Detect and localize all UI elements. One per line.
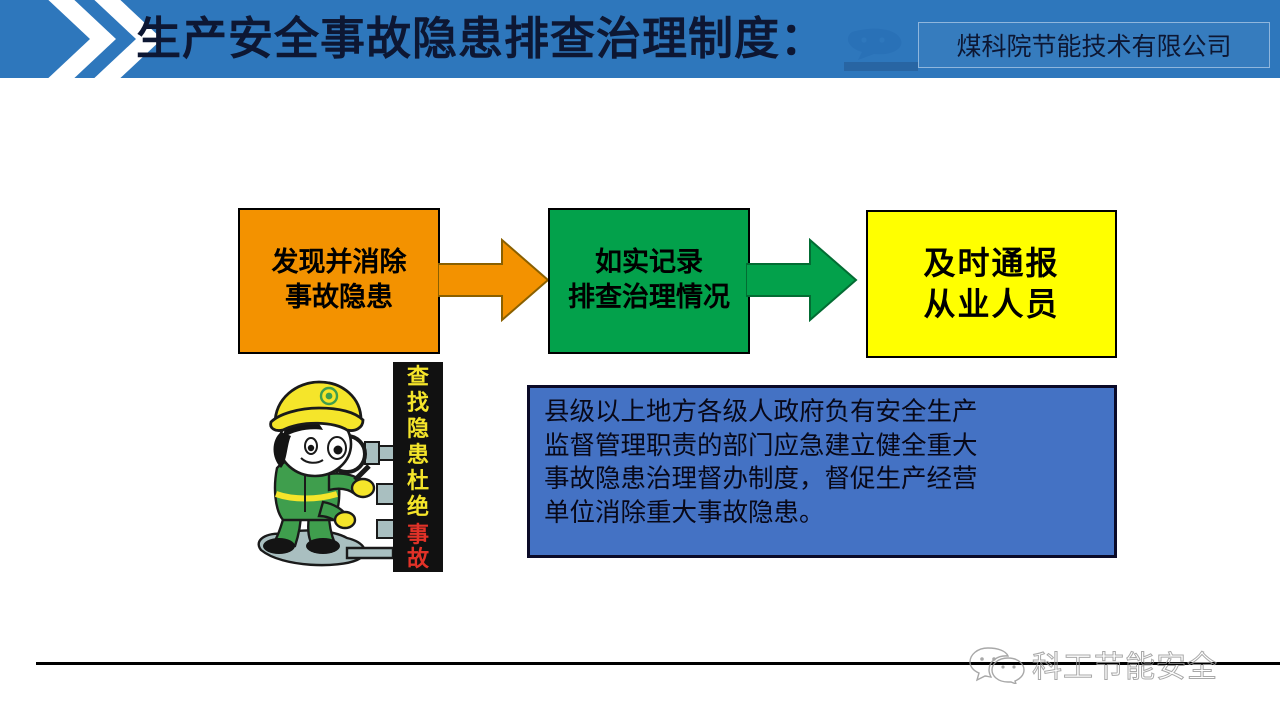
regulation-note-box: 县级以上地方各级人政府负有安全生产 监督管理职责的部门应急建立健全重大 事故隐患… [527, 385, 1117, 558]
page-title: 生产安全事故隐患排查治理制度： [136, 6, 826, 72]
arrow-right-orange-icon [438, 238, 550, 322]
wechat-icon [968, 644, 1026, 684]
header-band: 生产安全事故隐患排查治理制度： 煤科院节能技术有限公司 [0, 0, 1280, 78]
flow-step-record[interactable]: 如实记录 排查治理情况 [548, 208, 750, 354]
svg-text:杜: 杜 [407, 469, 429, 494]
flow-step-notify-line2: 从业人员 [923, 284, 1059, 325]
flow-step-record-line1: 如实记录 [595, 246, 703, 281]
arrow-right-green-icon [746, 238, 858, 322]
regulation-note-line2: 监督管理职责的部门应急建立健全重大 [544, 430, 1102, 464]
svg-text:找: 找 [407, 391, 429, 416]
svg-text:故: 故 [407, 546, 430, 572]
regulation-note-line4: 单位消除重大事故隐患。 [544, 497, 1102, 531]
svg-text:事: 事 [407, 522, 429, 548]
regulation-note-line1: 县级以上地方各级人政府负有安全生产 [544, 396, 1102, 430]
flow-step-notify-line1: 及时通报 [923, 243, 1059, 284]
regulation-note-line3: 事故隐患治理督办制度，督促生产经营 [544, 463, 1102, 497]
footer-watermark-label: 科工节能安全 [1032, 642, 1218, 686]
flow-step-discover[interactable]: 发现并消除 事故隐患 [238, 208, 440, 354]
flow-step-record-line2: 排查治理情况 [568, 281, 730, 316]
company-name-box: 煤科院节能技术有限公司 [918, 22, 1270, 68]
flow-step-notify[interactable]: 及时通报 从业人员 [866, 210, 1117, 358]
footer-watermark: 科工节能安全 [968, 640, 1268, 688]
company-name-label: 煤科院节能技术有限公司 [956, 27, 1231, 63]
svg-text:绝: 绝 [407, 494, 429, 520]
flow-step-discover-line2: 事故隐患 [285, 281, 393, 316]
svg-text:查: 查 [407, 365, 429, 390]
safety-inspector-cartoon: 查 找 隐 患 杜 绝 事 故 [243, 362, 449, 584]
svg-text:患: 患 [407, 442, 429, 468]
slide-root: 生产安全事故隐患排查治理制度： 煤科院节能技术有限公司 发现并消除 事故隐患 如… [0, 0, 1280, 720]
svg-text:隐: 隐 [407, 417, 429, 442]
flow-step-discover-line1: 发现并消除 [272, 246, 407, 281]
